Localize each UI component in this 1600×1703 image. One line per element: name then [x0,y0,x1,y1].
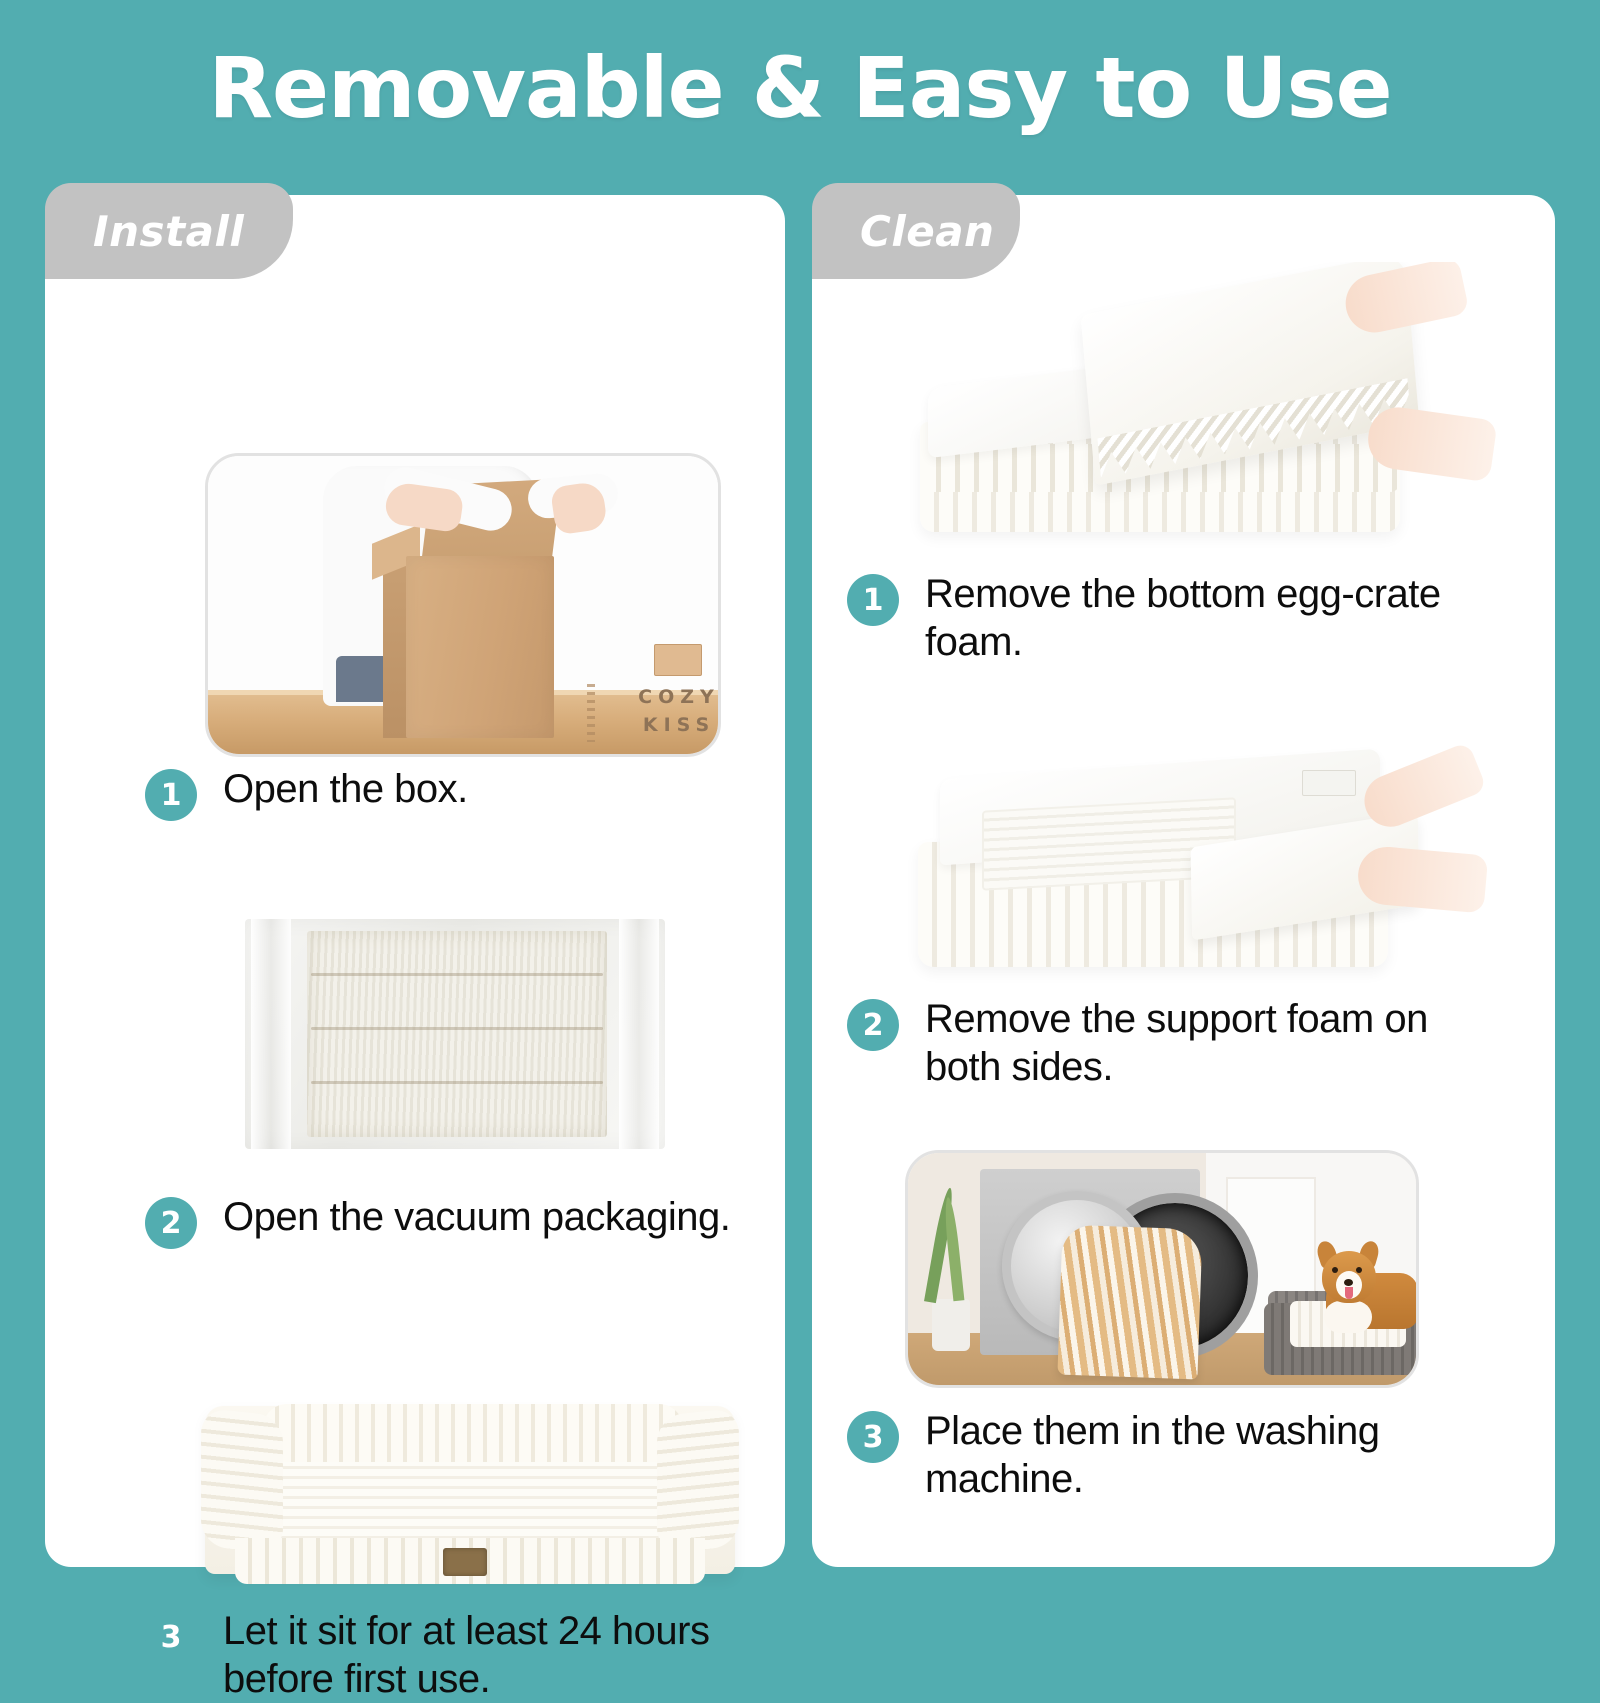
image-vacuum-sealed-bed-package [235,895,675,1170]
install-card: Install COZY KISS [45,195,785,1567]
box-brand-line-2: KISS [620,712,721,740]
tab-install[interactable]: Install [45,183,293,279]
image-person-opening-cardboard-box: COZY KISS [205,453,721,757]
install-step-1-text: Open the box. [223,765,468,813]
image-washing-machine-with-cover [905,1150,1419,1388]
install-step-2-number: 2 [145,1197,197,1249]
install-step-3-text: Let it sit for at least 24 hours before … [223,1607,745,1703]
clean-step-1-text: Remove the bottom egg-crate foam. [925,570,1467,666]
page-title: Removable & Easy to Use [0,0,1600,176]
plant-pot [932,1299,970,1351]
clean-step-1-number: 1 [847,574,899,626]
tab-clean-label: Clean [860,207,994,256]
clean-card: Clean 1 Remove the bottom egg-crate foam… [812,195,1555,1567]
box-front-panel: COZY KISS [406,556,554,738]
box-latch [654,644,702,676]
tab-clean[interactable]: Clean [812,183,1020,279]
bag-wrinkle-left [251,919,291,1149]
box-perforation [587,684,595,742]
corgi-chest [1324,1301,1372,1333]
plastic-vacuum-bag [245,919,665,1149]
image-expanded-pet-bed [175,1370,765,1600]
photo-background: COZY KISS [208,456,718,754]
clean-step-2-text: Remove the support foam on both sides. [925,995,1467,1091]
install-step-3: 3 Let it sit for at least 24 hours befor… [145,1607,745,1703]
laundry-room [908,1153,1416,1385]
install-step-1-number: 1 [145,769,197,821]
bed-sleeping-surface [270,1462,675,1546]
pet-bed-illustration [175,1370,765,1600]
install-step-3-number: 3 [145,1611,197,1663]
corgi-right-eye [1356,1267,1362,1273]
bed-cover-in-machine [1057,1225,1202,1380]
corgi-tongue [1345,1287,1353,1299]
corgi-nose [1344,1279,1353,1286]
bed-crease-3 [311,1081,603,1084]
clean-step-3-number: 3 [847,1411,899,1463]
clean-step-2: 2 Remove the support foam on both sides. [847,995,1467,1091]
install-step-1: 1 Open the box. [145,765,745,821]
bed-left-armrest [201,1408,283,1555]
clean-step-3-text: Place them in the washing machine. [925,1407,1467,1503]
care-label [1302,770,1356,796]
clean-step-2-number: 2 [847,999,899,1051]
box-brand-text: COZY KISS [620,684,721,739]
bed-brand-tag [443,1548,487,1576]
box-brand-line-1: COZY [620,684,721,712]
install-step-2-text: Open the vacuum packaging. [223,1193,730,1241]
clean-step-3: 3 Place them in the washing machine. [847,1407,1467,1503]
image-removing-egg-crate-foam [890,262,1510,562]
bed-backrest-bolster [263,1404,683,1468]
image-removing-support-foam [890,722,1510,1002]
bag-wrinkle-right [619,919,659,1149]
install-step-2: 2 Open the vacuum packaging. [145,1193,765,1249]
bed-right-armrest [657,1408,739,1555]
clean-step-1: 1 Remove the bottom egg-crate foam. [847,570,1467,666]
bed-crease-2 [311,1027,603,1030]
compressed-bed [307,931,607,1137]
corgi-left-eye [1332,1267,1338,1273]
bed-crease-1 [311,973,603,976]
tab-install-label: Install [93,207,244,256]
